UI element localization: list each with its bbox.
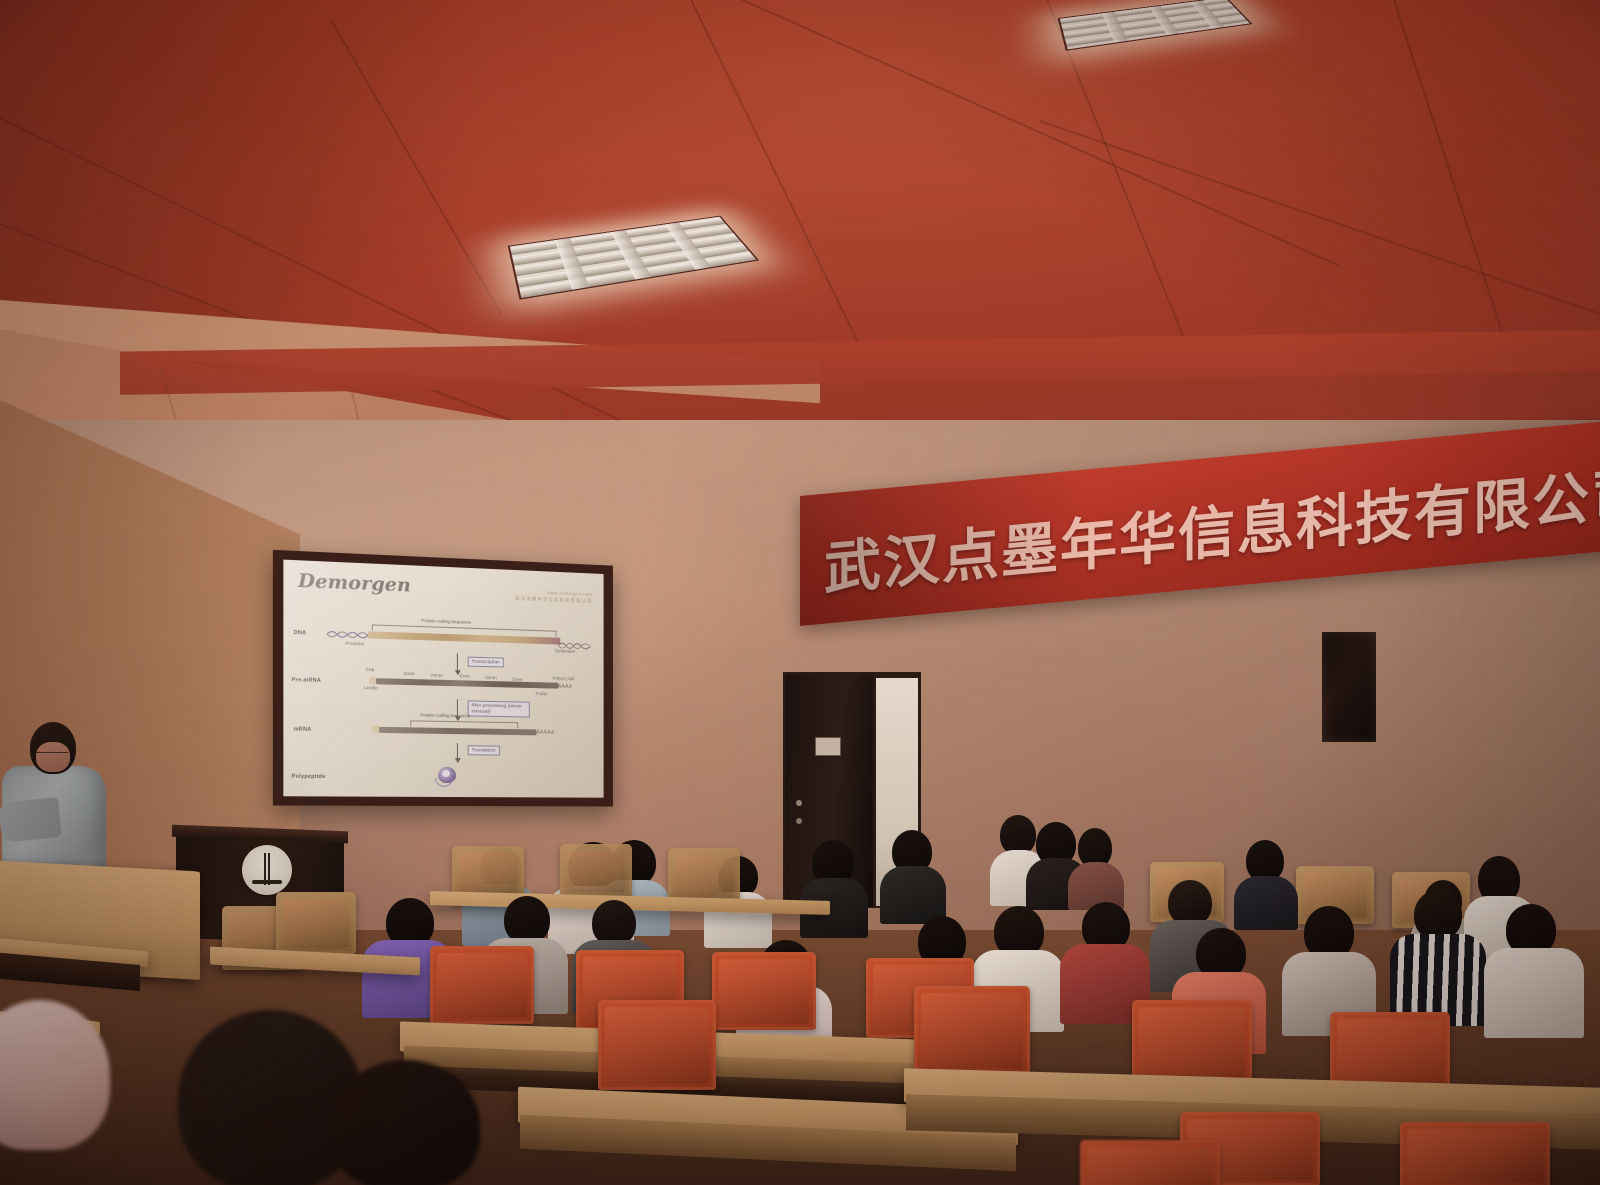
audience-head — [1414, 890, 1462, 940]
row-label-mrna: mRNA — [294, 726, 312, 732]
auditorium-seat[interactable] — [712, 952, 816, 1030]
audience-head-foreground — [330, 1060, 480, 1185]
presenter-arm — [0, 797, 62, 843]
row-label-polypeptide: Polypeptide — [292, 774, 326, 780]
auditorium-seat[interactable] — [1080, 1140, 1220, 1185]
audience-head — [1000, 815, 1036, 855]
lecture-hall-photo: 武汉点墨年华信息科技有限公司湖北大学专场 Demorgen www.demorg… — [0, 0, 1600, 1185]
auditorium-seat[interactable] — [1400, 1122, 1550, 1185]
row-label-dna: DNA — [294, 630, 307, 637]
dna-span-caption: Protein-coding sequence — [421, 618, 471, 625]
auditorium-seat[interactable] — [430, 946, 534, 1024]
translation-callout: Translation — [468, 745, 500, 755]
crest-base-icon — [252, 880, 282, 884]
mrna-bar — [379, 727, 536, 736]
auditorium-seat[interactable] — [914, 986, 1030, 1074]
audience-head — [504, 896, 550, 944]
row-label-pre-mrna: Pre-mRNA — [292, 677, 321, 684]
dna-terminator-tag: Terminator — [555, 648, 576, 654]
pre-mrna-exon-tag: Exon — [460, 673, 470, 678]
pre-mrna-polya-tag: Poly(A) tail — [553, 676, 574, 681]
glasses-icon — [36, 752, 68, 759]
translation-arrow-icon — [457, 743, 458, 759]
auditorium-seat[interactable] — [598, 1000, 716, 1090]
audience-torso — [1068, 862, 1124, 910]
polypeptide-chain-icon — [435, 778, 453, 787]
projection-screen-frame: Demorgen www.demorgen.com 武汉点墨年华信息科技有限公司… — [273, 550, 613, 807]
pre-mrna-trailer-tag: Trailer — [536, 691, 549, 696]
projection-screen: Demorgen www.demorgen.com 武汉点墨年华信息科技有限公司… — [283, 560, 603, 798]
central-dogma-diagram: DNA Protein-coding sequence Promoter Ter… — [283, 609, 603, 798]
dna-promoter-tag: Promoter — [345, 641, 364, 647]
door-handle-icon[interactable] — [796, 800, 802, 806]
auditorium-seat[interactable] — [276, 892, 356, 954]
wall-speaker-box — [1322, 632, 1376, 742]
mrna-span-caption: Protein-coding sequence — [420, 712, 470, 718]
door-sign — [815, 737, 841, 756]
pre-mrna-intron-tag: Intron — [431, 673, 443, 678]
mrna-polya-icon: AAAAA — [536, 729, 554, 735]
pre-mrna-cap-tag: Cap — [366, 667, 374, 672]
audience-torso — [880, 866, 946, 924]
pre-mrna-bar — [376, 678, 558, 688]
audience-torso — [1234, 876, 1298, 930]
pre-mrna-exon-tag: Exon — [512, 677, 522, 682]
pre-mrna-exon-tag: Exon — [404, 671, 414, 676]
transcription-callout: Transcription — [468, 657, 504, 668]
slide-logo: Demorgen — [298, 569, 411, 596]
auditorium-seat[interactable] — [668, 848, 740, 904]
pre-mrna-leader-tag: Leader — [364, 685, 378, 690]
pre-mrna-polya-icon: AAAAA — [555, 684, 573, 690]
audience-torso — [1484, 948, 1584, 1038]
auditorium-seat[interactable] — [560, 844, 632, 898]
slide-url-block: www.demorgen.com 武汉点墨年华信息科技有限公司 — [515, 588, 592, 605]
rna-processing-callout: RNA processing (intron removal) — [468, 700, 530, 717]
dna-helix-icon — [327, 629, 368, 641]
door-lock-icon[interactable] — [796, 818, 802, 824]
pre-mrna-intron-tag: Intron — [485, 675, 497, 680]
transcription-arrow-icon — [457, 653, 458, 671]
